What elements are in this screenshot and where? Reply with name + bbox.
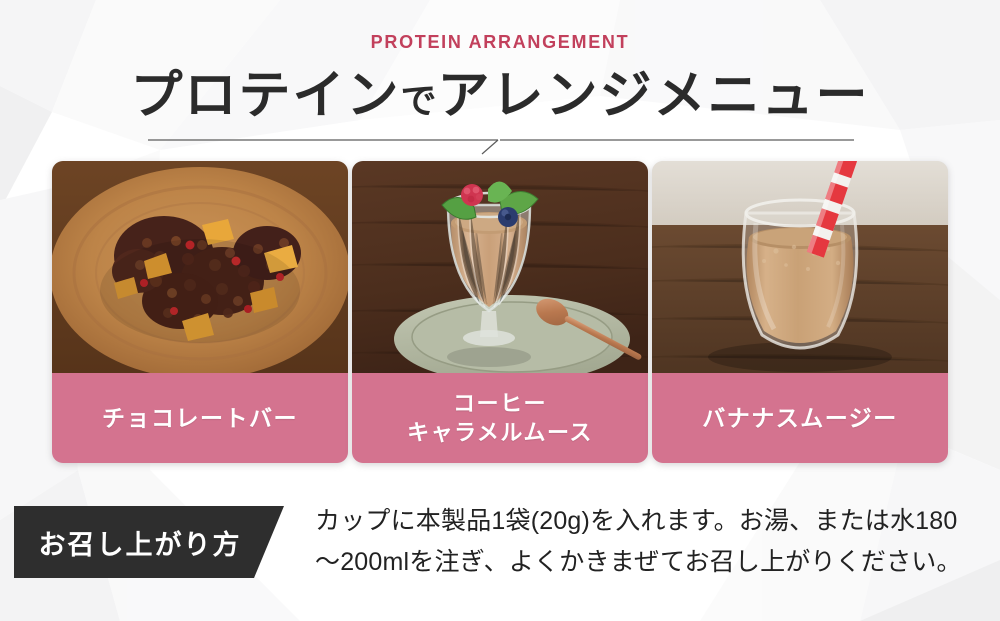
howto-tag-label: お召し上がり方 — [39, 523, 260, 562]
menu-cards-row: チョコレートバー — [0, 161, 1000, 465]
caption-line-2: キャラメルムース — [407, 418, 593, 447]
title-divider — [148, 131, 854, 155]
howto-tag: お召し上がり方 — [14, 506, 284, 578]
page-title: プロテインでアレンジメニュー — [0, 69, 1000, 124]
caption-line-1: バナナスムージー — [702, 403, 898, 433]
photo-coffee-caramel-mousse — [352, 161, 648, 373]
card-caption-chocolate-bar: チョコレートバー — [52, 373, 348, 463]
card-caption-banana-smoothie: バナナスムージー — [652, 373, 948, 463]
howto-description: カップに本製品1袋(20g)を入れます。お湯、または水180 〜200mlを注ぎ… — [315, 501, 985, 582]
title-part-1: プロテイン — [130, 67, 400, 125]
card-caption-coffee-caramel-mousse: コーヒー キャラメルムース — [352, 373, 648, 463]
photo-banana-smoothie — [652, 161, 948, 373]
title-part-2: アレンジメニュー — [438, 67, 870, 125]
page-header: PROTEIN ARRANGEMENT プロテインでアレンジメニュー — [0, 0, 1000, 124]
howto-line-1: カップに本製品1袋(20g)を入れます。お湯、または水180 — [315, 501, 985, 542]
howto-line-2: 〜200mlを注ぎ、よくかきまぜてお召し上がりください。 — [315, 542, 985, 583]
title-particle: で — [400, 80, 437, 121]
photo-chocolate-bar — [52, 161, 348, 373]
caption-line-1: チョコレートバー — [102, 403, 298, 433]
menu-card-coffee-caramel-mousse[interactable]: コーヒー キャラメルムース — [352, 161, 648, 463]
menu-card-banana-smoothie[interactable]: バナナスムージー — [652, 161, 948, 463]
menu-card-chocolate-bar[interactable]: チョコレートバー — [52, 161, 348, 463]
eyebrow-text: PROTEIN ARRANGEMENT — [0, 33, 1000, 51]
howto-section: お召し上がり方 カップに本製品1袋(20g)を入れます。お湯、または水180 〜… — [0, 498, 1000, 593]
caption-line-1: コーヒー — [453, 389, 547, 418]
